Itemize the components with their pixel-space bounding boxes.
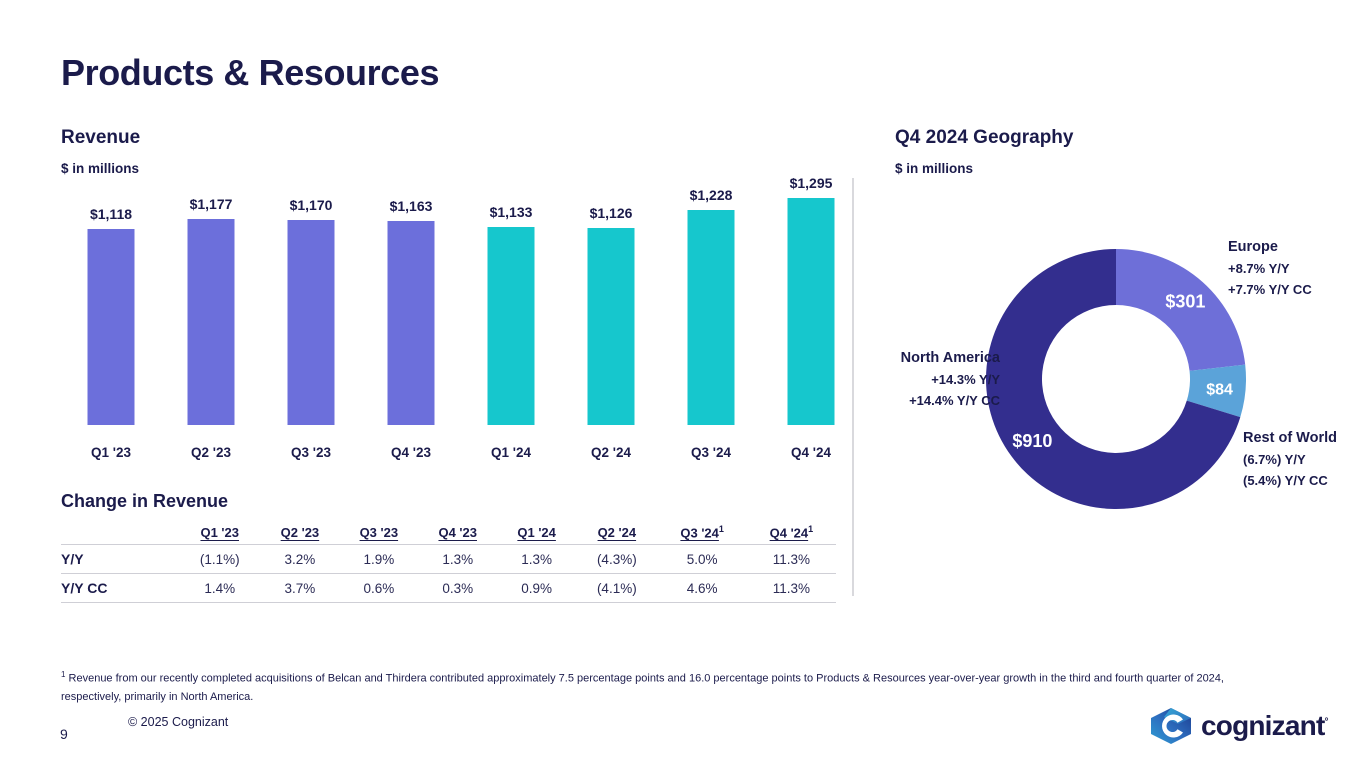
revenue-bar: [688, 210, 735, 425]
table-column-header: Q4 '241: [747, 524, 836, 545]
bar-category-label: Q3 '24: [691, 445, 731, 460]
bar-category-label: Q1 '24: [491, 445, 531, 460]
table-cell: 0.3%: [418, 574, 497, 603]
bar-wrapper: $1,228: [688, 210, 735, 425]
geo-yy-north-america: +14.3% Y/Y: [860, 372, 1000, 387]
bar-value-label: $1,133: [490, 204, 533, 220]
change-in-revenue-heading: Change in Revenue: [61, 491, 228, 512]
geo-annotation-north-america: North America +14.3% Y/Y +14.4% Y/Y CC: [860, 350, 1000, 408]
geo-label-europe: Europe: [1228, 239, 1312, 255]
table-cell: 3.7%: [260, 574, 339, 603]
table-row: Y/Y(1.1%)3.2%1.9%1.3%1.3%(4.3%)5.0%11.3%: [61, 545, 836, 574]
table-cell: 5.0%: [658, 545, 747, 574]
table-cell: (4.1%): [576, 574, 657, 603]
table-column-header: Q3 '23: [339, 524, 418, 545]
bar-value-label: $1,177: [190, 196, 233, 212]
table-cell: 11.3%: [747, 545, 836, 574]
bar-value-label: $1,170: [290, 197, 333, 213]
table-column-header: Q2 '24: [576, 524, 657, 545]
change-in-revenue-table: Q1 '23Q2 '23Q3 '23Q4 '23Q1 '24Q2 '24Q3 '…: [61, 524, 836, 603]
table-cell: 3.2%: [260, 545, 339, 574]
revenue-bar: [288, 220, 335, 425]
bar-wrapper: $1,170: [288, 220, 335, 425]
wordmark-text: cognizant: [1201, 710, 1324, 741]
table-column-header: Q4 '23: [418, 524, 497, 545]
footnote: 1 Revenue from our recently completed ac…: [61, 668, 1246, 706]
revenue-bar: [88, 229, 135, 425]
table-cell: 1.3%: [418, 545, 497, 574]
table-cell: (4.3%): [576, 545, 657, 574]
table-cell: 0.6%: [339, 574, 418, 603]
geo-yycc-north-america: +14.4% Y/Y CC: [860, 393, 1000, 408]
bar-value-label: $1,126: [590, 205, 633, 221]
wordmark-tm: °: [1324, 717, 1327, 728]
table-body: Y/Y(1.1%)3.2%1.9%1.3%1.3%(4.3%)5.0%11.3%…: [61, 545, 836, 603]
bar-wrapper: $1,133: [488, 227, 535, 425]
slide-canvas: Products & Resources Revenue $ in millio…: [0, 0, 1365, 768]
bar-column: $1,133Q1 '24: [461, 180, 561, 460]
footnote-text: Revenue from our recently completed acqu…: [61, 673, 1224, 703]
bar-wrapper: $1,118: [88, 229, 135, 425]
page-title: Products & Resources: [61, 52, 439, 94]
geo-yy-europe: +8.7% Y/Y: [1228, 261, 1312, 276]
revenue-heading: Revenue: [61, 127, 140, 149]
bar-value-label: $1,163: [390, 198, 433, 214]
donut-slice-value: $910: [1012, 431, 1052, 451]
revenue-bar-chart: $1,118Q1 '23$1,177Q2 '23$1,170Q3 '23$1,1…: [61, 180, 851, 460]
bar-wrapper: $1,295: [788, 198, 835, 425]
footnote-marker: 1: [61, 670, 65, 679]
bar-column: $1,163Q4 '23: [361, 180, 461, 460]
bar-wrapper: $1,126: [588, 228, 635, 425]
table-header-row: Q1 '23Q2 '23Q3 '23Q4 '23Q1 '24Q2 '24Q3 '…: [61, 524, 836, 545]
donut-slice-value: $301: [1165, 292, 1205, 312]
table-row-header: Y/Y: [61, 545, 179, 574]
table-row: Y/Y CC1.4%3.7%0.6%0.3%0.9%(4.1%)4.6%11.3…: [61, 574, 836, 603]
bar-category-label: Q1 '23: [91, 445, 131, 460]
bar-category-label: Q4 '23: [391, 445, 431, 460]
revenue-subheading: $ in millions: [61, 161, 139, 176]
geography-heading: Q4 2024 Geography: [895, 127, 1073, 149]
cognizant-hexagon-icon: [1150, 707, 1192, 745]
bar-column: $1,126Q2 '24: [561, 180, 661, 460]
revenue-bar: [388, 221, 435, 425]
table-column-header: Q1 '23: [179, 524, 260, 545]
revenue-bar: [488, 227, 535, 425]
copyright-notice: © 2025 Cognizant: [128, 715, 228, 729]
revenue-bar: [588, 228, 635, 425]
bar-value-label: $1,118: [90, 206, 132, 222]
geo-yy-rest-of-world: (6.7%) Y/Y: [1243, 452, 1337, 467]
bar-column: $1,118Q1 '23: [61, 180, 161, 460]
table-cell: 1.9%: [339, 545, 418, 574]
geo-annotation-rest-of-world: Rest of World (6.7%) Y/Y (5.4%) Y/Y CC: [1243, 430, 1337, 488]
geo-label-north-america: North America: [860, 350, 1000, 366]
bar-category-label: Q2 '23: [191, 445, 231, 460]
table-cell: 0.9%: [497, 574, 576, 603]
table-cell: 1.4%: [179, 574, 260, 603]
bar-wrapper: $1,177: [188, 219, 235, 425]
geo-label-rest-of-world: Rest of World: [1243, 430, 1337, 446]
revenue-bar: [188, 219, 235, 425]
geo-yycc-europe: +7.7% Y/Y CC: [1228, 282, 1312, 297]
bar-column: $1,295Q4 '24: [761, 180, 861, 460]
table-row-header: Y/Y CC: [61, 574, 179, 603]
section-divider: [852, 178, 854, 596]
bar-column: $1,170Q3 '23: [261, 180, 361, 460]
donut-slice-value: $84: [1206, 382, 1233, 399]
table-cell: 4.6%: [658, 574, 747, 603]
bar-value-label: $1,295: [790, 175, 833, 191]
table-cell: 1.3%: [497, 545, 576, 574]
bar-column: $1,228Q3 '24: [661, 180, 761, 460]
bar-category-label: Q4 '24: [791, 445, 831, 460]
geography-subheading: $ in millions: [895, 161, 973, 176]
geography-donut-chart: $910$301$84: [985, 248, 1247, 510]
table-cell: (1.1%): [179, 545, 260, 574]
revenue-bar: [788, 198, 835, 425]
bar-wrapper: $1,163: [388, 221, 435, 425]
bar-category-label: Q3 '23: [291, 445, 331, 460]
table-column-header: Q1 '24: [497, 524, 576, 545]
bar-column: $1,177Q2 '23: [161, 180, 261, 460]
geo-yycc-rest-of-world: (5.4%) Y/Y CC: [1243, 473, 1337, 488]
bar-category-label: Q2 '24: [591, 445, 631, 460]
table-cell: 11.3%: [747, 574, 836, 603]
cognizant-wordmark: cognizant°: [1201, 712, 1328, 740]
table-column-header: Q3 '241: [658, 524, 747, 545]
page-number: 9: [60, 726, 68, 742]
donut-svg: $910$301$84: [985, 248, 1247, 510]
bar-value-label: $1,228: [690, 187, 733, 203]
table-column-header: Q2 '23: [260, 524, 339, 545]
table-corner-cell: [61, 524, 179, 545]
geo-annotation-europe: Europe +8.7% Y/Y +7.7% Y/Y CC: [1228, 239, 1312, 297]
cognizant-logo: cognizant°: [1150, 707, 1328, 745]
